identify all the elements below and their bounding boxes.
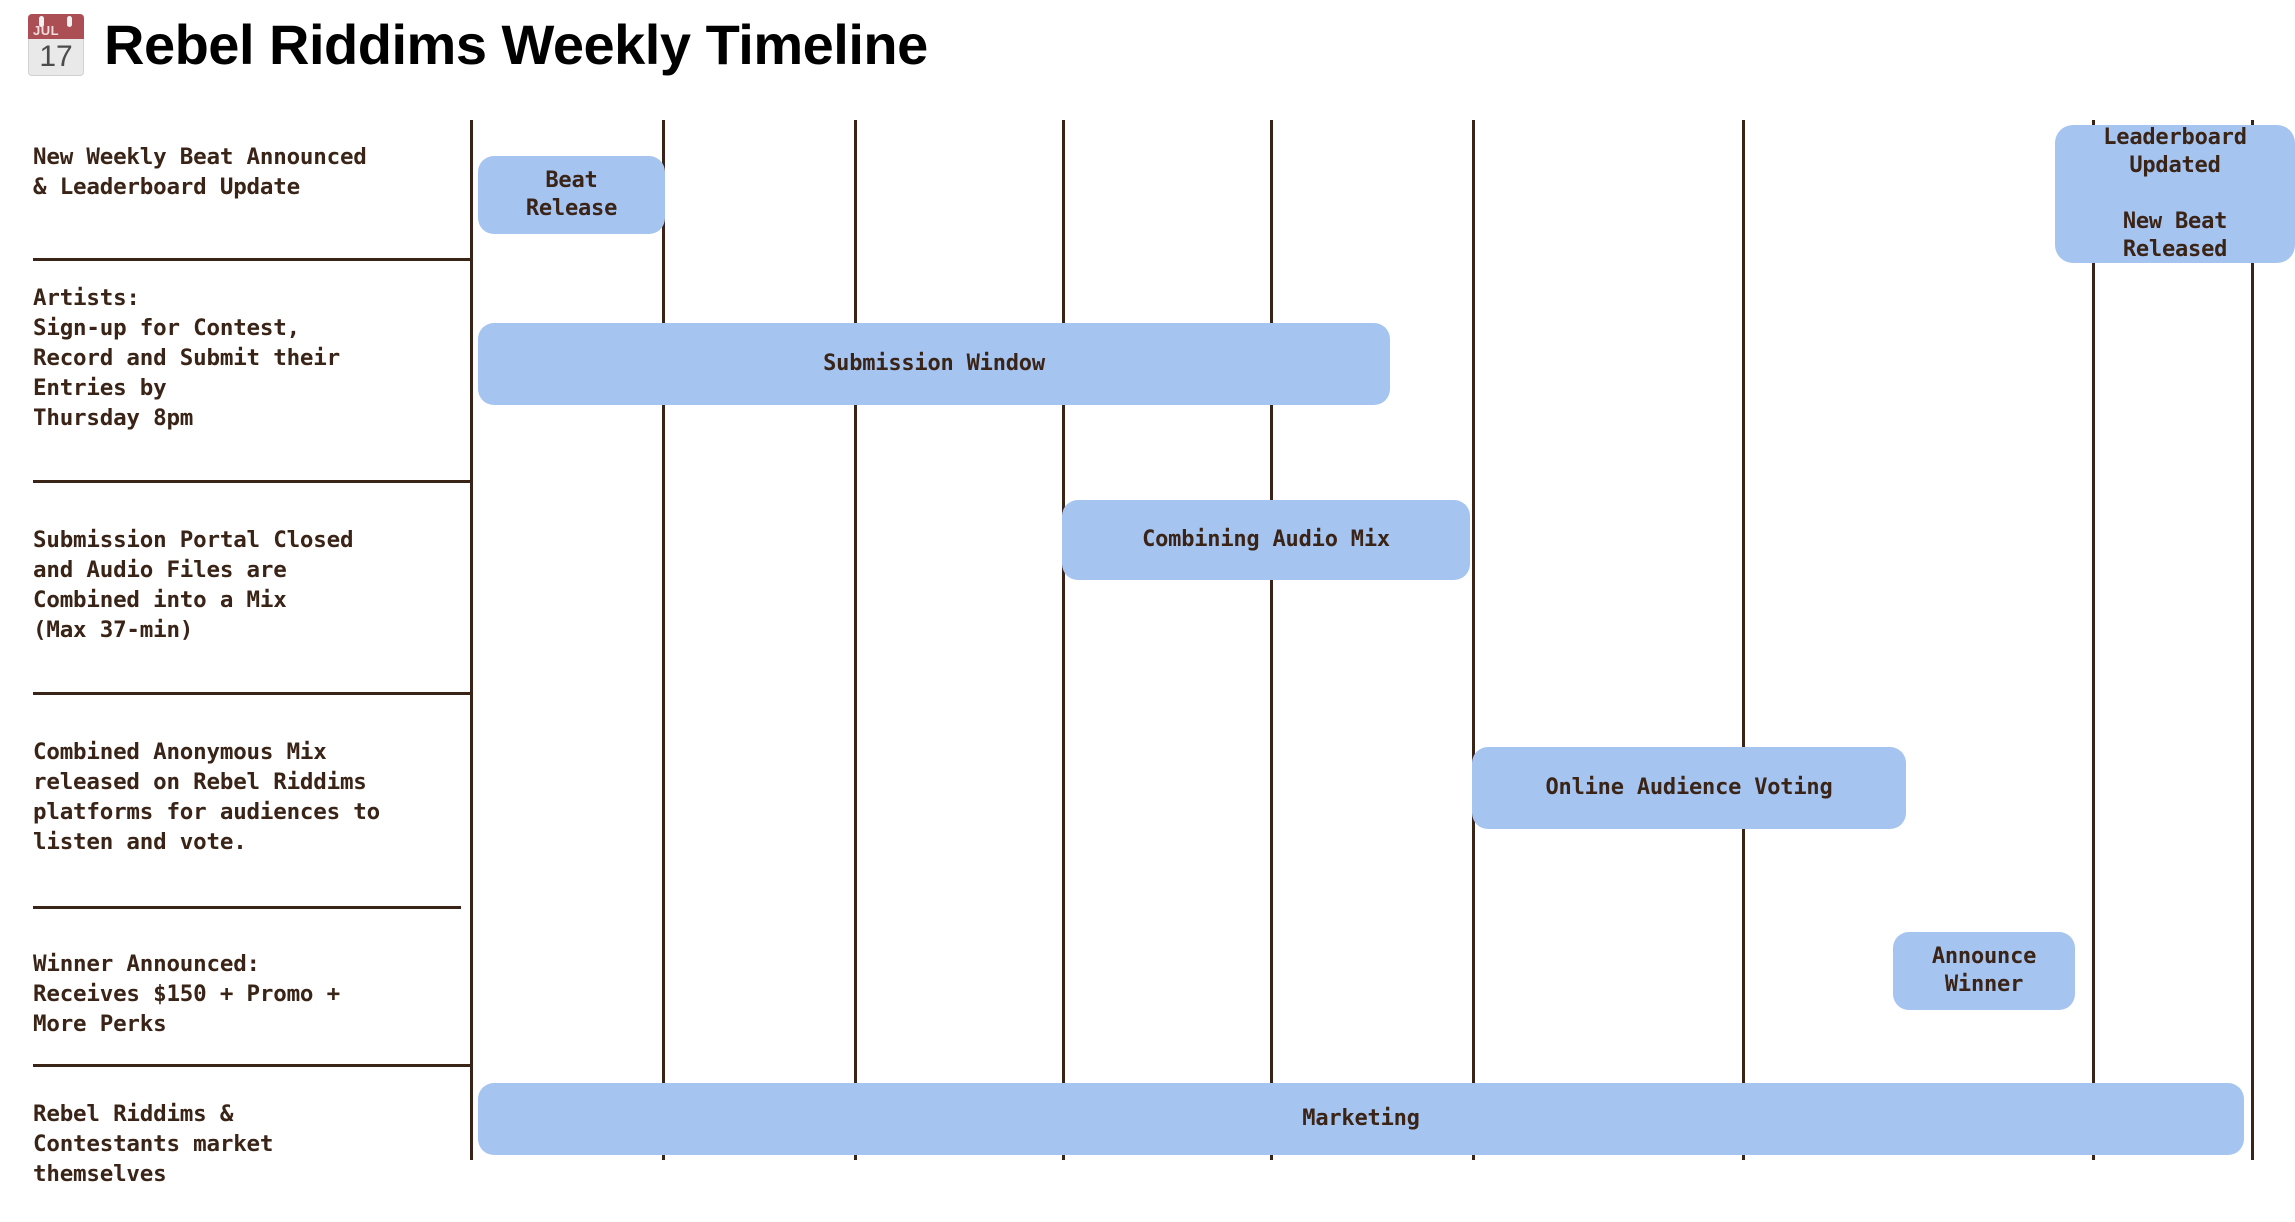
- description-text: Winner Announced: Receives $150 + Promo …: [33, 949, 463, 1039]
- page-header: JUL 17 Rebel Riddims Weekly Timeline: [28, 6, 1228, 84]
- description-text: New Weekly Beat Announced & Leaderboard …: [33, 142, 463, 202]
- calendar-icon: JUL 17: [28, 14, 84, 76]
- gridline-sunday-next: [2092, 120, 2095, 1160]
- gridline-axis-right: [2251, 120, 2254, 1160]
- bar-combining-audio-mix[interactable]: Combining Audio Mix: [1062, 500, 1470, 580]
- description-row-4: Winner Announced: Receives $150 + Promo …: [33, 949, 463, 1039]
- bar-label: Online Audience Voting: [1546, 774, 1833, 802]
- row-divider-1: [33, 480, 473, 483]
- description-row-5: Rebel Riddims & Contestants market thems…: [33, 1099, 463, 1189]
- bar-label: Beat Release: [526, 167, 617, 223]
- calendar-ring-right: [67, 16, 72, 27]
- bar-label: Announce Winner: [1932, 943, 2036, 999]
- bar-label: Submission Window: [823, 350, 1045, 378]
- description-row-3: Combined Anonymous Mix released on Rebel…: [33, 737, 463, 857]
- page-title: Rebel Riddims Weekly Timeline: [104, 16, 928, 74]
- description-text: Artists: Sign-up for Contest, Record and…: [33, 283, 463, 433]
- row-divider-4: [33, 1064, 473, 1067]
- bar-marketing[interactable]: Marketing: [478, 1083, 2244, 1155]
- gridline-friday: [1472, 120, 1475, 1160]
- description-text: Combined Anonymous Mix released on Rebel…: [33, 737, 463, 857]
- description-row-0: New Weekly Beat Announced & Leaderboard …: [33, 142, 463, 202]
- timeline-chart: New Weekly Beat Announced & Leaderboard …: [0, 120, 2295, 1222]
- bar-submission-window[interactable]: Submission Window: [478, 323, 1390, 405]
- bar-label: Combining Audio Mix: [1142, 526, 1390, 554]
- gridline-saturday: [1742, 120, 1745, 1160]
- bar-announce-winner[interactable]: Announce Winner: [1893, 932, 2075, 1010]
- timeline-page: JUL 17 Rebel Riddims Weekly Timeline New…: [0, 0, 2295, 1222]
- row-divider-0: [33, 258, 473, 261]
- bar-beat-release[interactable]: Beat Release: [478, 156, 665, 234]
- calendar-day-label: 17: [28, 38, 84, 76]
- description-row-1: Artists: Sign-up for Contest, Record and…: [33, 283, 463, 433]
- row-divider-3: [33, 906, 461, 909]
- bar-label: Leaderboard Updated New Beat Released: [2103, 124, 2247, 264]
- bar-leaderboard-updated[interactable]: Leaderboard Updated New Beat Released: [2055, 125, 2295, 263]
- description-column: New Weekly Beat Announced & Leaderboard …: [0, 120, 472, 1222]
- gridline-monday: [662, 120, 665, 1160]
- description-text: Rebel Riddims & Contestants market thems…: [33, 1099, 463, 1189]
- gridline-thursday: [1270, 120, 1273, 1160]
- description-row-2: Submission Portal Closed and Audio Files…: [33, 525, 463, 645]
- calendar-month-label: JUL: [28, 14, 84, 39]
- gridline-tuesday: [854, 120, 857, 1160]
- description-text: Submission Portal Closed and Audio Files…: [33, 525, 463, 645]
- row-divider-2: [33, 692, 473, 695]
- calendar-ring-left: [39, 16, 44, 27]
- bar-label: Marketing: [1302, 1105, 1419, 1133]
- gridline-wednesday: [1062, 120, 1065, 1160]
- bar-online-audience-voting[interactable]: Online Audience Voting: [1472, 747, 1906, 829]
